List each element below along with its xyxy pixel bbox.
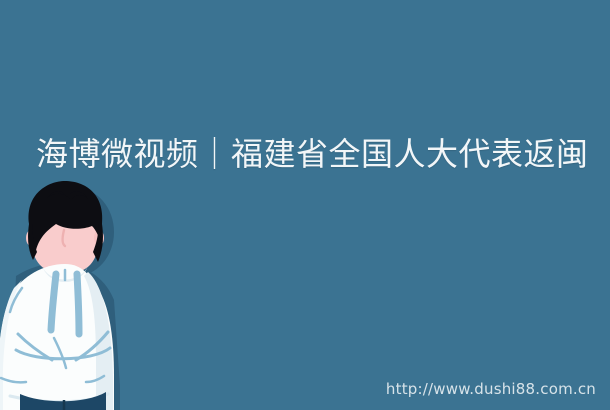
hoodie <box>0 264 114 410</box>
watermark-url: http://www.dushi88.com.cn <box>386 380 596 398</box>
thumbnail-canvas: 海博微视频｜福建省全国人大代表返闽 http://www.dushi88.com… <box>0 0 610 410</box>
page-title: 海博微视频｜福建省全国人大代表返闽 <box>36 134 592 174</box>
person-illustration <box>0 180 142 410</box>
